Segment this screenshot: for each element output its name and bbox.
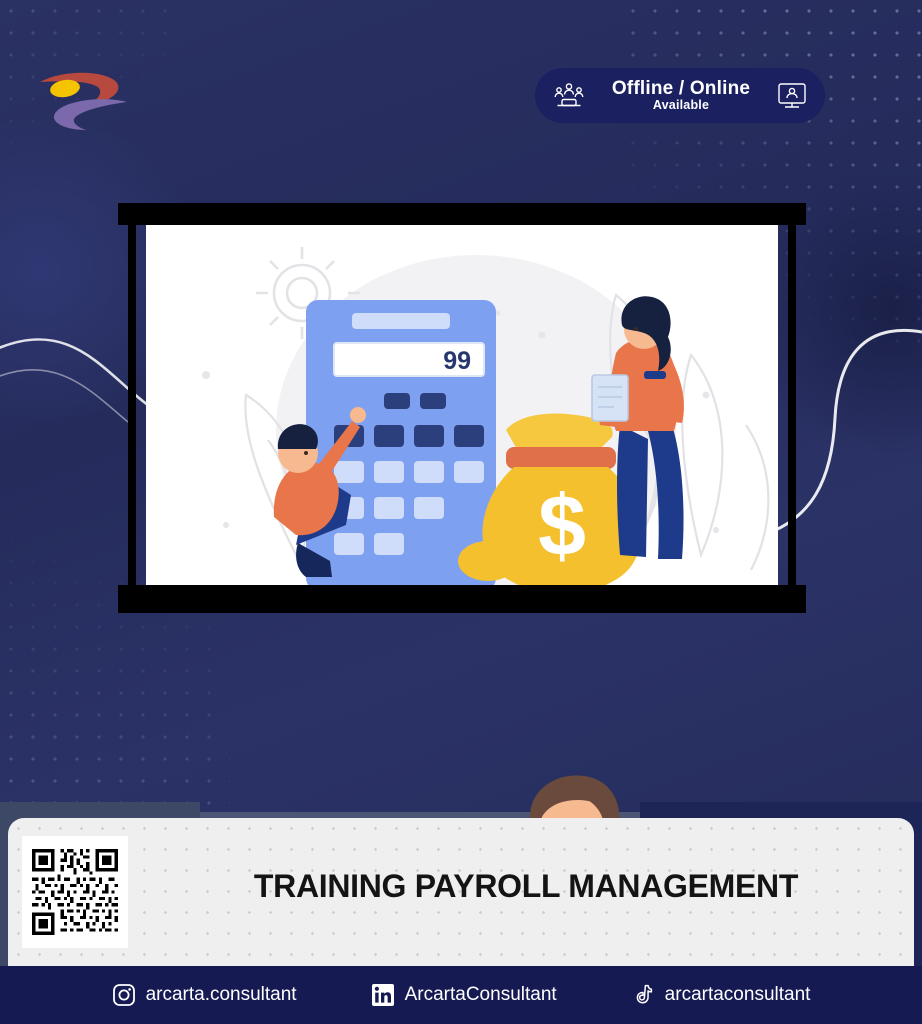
arcarta-logo (32, 60, 137, 140)
social-tiktok[interactable]: arcartaconsultant (631, 983, 811, 1007)
monitor-bezel-left (128, 225, 136, 585)
poster-canvas: Offline / Online Available (0, 0, 922, 1024)
payroll-illustration: 99 (146, 225, 778, 585)
svg-text:99: 99 (443, 347, 471, 375)
meeting-group-icon (553, 81, 585, 111)
title-card: TRAINING PAYROLL MANAGEMENT (8, 818, 914, 966)
tiktok-icon (631, 983, 655, 1007)
monitor-screen: 99 (146, 225, 778, 585)
social-linkedin[interactable]: ArcartaConsultant (371, 983, 557, 1007)
presentation-monitor: 99 (118, 203, 806, 613)
page-title: TRAINING PAYROLL MANAGEMENT (178, 868, 874, 905)
instagram-icon (112, 983, 136, 1007)
social-footer: arcarta.consultant ArcartaConsultant arc… (0, 966, 922, 1024)
monitor-bezel-bottom (118, 585, 806, 613)
linkedin-handle: ArcartaConsultant (405, 984, 557, 1006)
monitor-bezel-right (788, 225, 796, 585)
linkedin-icon (371, 983, 395, 1007)
webinar-monitor-icon (777, 82, 807, 110)
instagram-handle: arcarta.consultant (146, 984, 297, 1006)
qr-code[interactable] (22, 836, 128, 948)
svg-text:$: $ (538, 478, 586, 574)
availability-badge[interactable]: Offline / Online Available (535, 68, 825, 123)
badge-subtitle: Available (585, 99, 777, 112)
badge-title: Offline / Online (585, 79, 777, 99)
social-instagram[interactable]: arcarta.consultant (112, 983, 297, 1007)
monitor-bezel-top (118, 203, 806, 225)
tiktok-handle: arcartaconsultant (665, 984, 811, 1006)
badge-text-block: Offline / Online Available (585, 79, 777, 112)
qr-code-image (29, 843, 121, 941)
